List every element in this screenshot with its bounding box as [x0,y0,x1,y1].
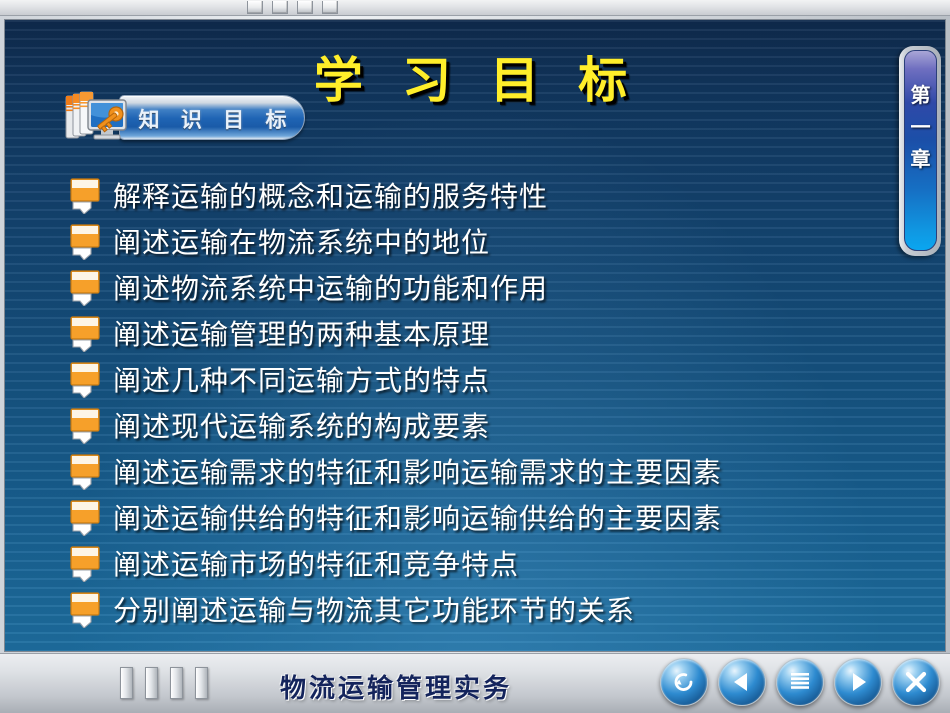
triangle-right-icon [845,669,871,695]
top-tab-2[interactable] [272,1,288,14]
presentation-slide: 学 习 目 标 知 识 目 标 [0,0,950,713]
previous-button[interactable] [718,658,766,706]
orange-arrow-bullet-icon [67,590,113,628]
orange-arrow-bullet-icon [67,452,113,490]
next-button[interactable] [834,658,882,706]
books-key-icon [61,84,133,156]
orange-arrow-bullet-icon [67,544,113,582]
list-item-label: 阐述物流系统中运输的功能和作用 [113,267,548,307]
orange-arrow-bullet-icon [67,498,113,536]
orange-arrow-bullet-icon [67,406,113,444]
list-item: 阐述运输管理的两种基本原理 [67,310,946,356]
orange-arrow-bullet-icon [67,314,113,352]
list-item: 阐述几种不同运输方式的特点 [67,356,946,402]
list-item: 阐述运输市场的特征和竞争特点 [67,540,946,586]
footer-bar-3 [170,667,183,699]
top-tab-1[interactable] [247,1,263,14]
navigation-buttons [660,658,940,706]
list-lines-icon [788,670,812,694]
slide-frame: 学 习 目 标 知 识 目 标 [0,16,950,653]
orange-arrow-bullet-icon [67,360,113,398]
objectives-list: 解释运输的概念和运输的服务特性 阐述运输在物流系统中的地位 [67,172,946,632]
orange-arrow-bullet-icon [67,222,113,260]
list-item: 阐述运输供给的特征和影响运输供给的主要因素 [67,494,946,540]
list-item-label: 阐述运输需求的特征和影响运输需求的主要因素 [113,451,722,491]
slide-content-area: 学 习 目 标 知 识 目 标 [4,19,946,652]
list-item-label: 阐述运输管理的两种基本原理 [113,313,490,353]
list-item-label: 阐述运输在物流系统中的地位 [113,221,490,261]
chapter-char-2: 一 [911,111,931,143]
list-item: 阐述运输需求的特征和影响运输需求的主要因素 [67,448,946,494]
list-item-label: 阐述现代运输系统的构成要素 [113,405,490,445]
course-title: 物流运输管理实务 [280,668,512,705]
list-item-label: 阐述运输市场的特征和竞争特点 [113,543,519,583]
top-tab-group [247,1,338,14]
chapter-char-1: 第 [911,79,931,111]
list-item-label: 阐述运输供给的特征和影响运输供给的主要因素 [113,497,722,537]
top-tab-4[interactable] [322,1,338,14]
list-item: 分别阐述运输与物流其它功能环节的关系 [67,586,946,632]
top-tab-3[interactable] [297,1,313,14]
footer-bar-4 [195,667,208,699]
list-item: 解释运输的概念和运输的服务特性 [67,172,946,218]
footer-bar-1 [120,667,133,699]
list-item: 阐述现代运输系统的构成要素 [67,402,946,448]
triangle-left-icon [729,669,755,695]
knowledge-objective-badge: 知 识 目 标 [61,84,311,156]
close-button[interactable] [892,658,940,706]
footer-bar-2 [145,667,158,699]
circular-arrow-icon [670,668,698,696]
badge-plate: 知 识 目 标 [119,95,305,140]
badge-label: 知 识 目 标 [120,96,306,141]
list-item: 阐述运输在物流系统中的地位 [67,218,946,264]
list-item: 阐述物流系统中运输的功能和作用 [67,264,946,310]
list-item-label: 分别阐述运输与物流其它功能环节的关系 [113,589,635,629]
replay-button[interactable] [660,658,708,706]
footer-decoration-bars [120,667,208,699]
footer-bar: 物流运输管理实务 [0,653,950,713]
menu-button[interactable] [776,658,824,706]
chapter-char-3: 章 [911,143,931,175]
list-item-label: 解释运输的概念和运输的服务特性 [113,175,548,215]
orange-arrow-bullet-icon [67,268,113,306]
list-item-label: 阐述几种不同运输方式的特点 [113,359,490,399]
orange-arrow-bullet-icon [67,176,113,214]
window-top-bar [0,0,950,16]
close-x-icon [903,669,929,695]
